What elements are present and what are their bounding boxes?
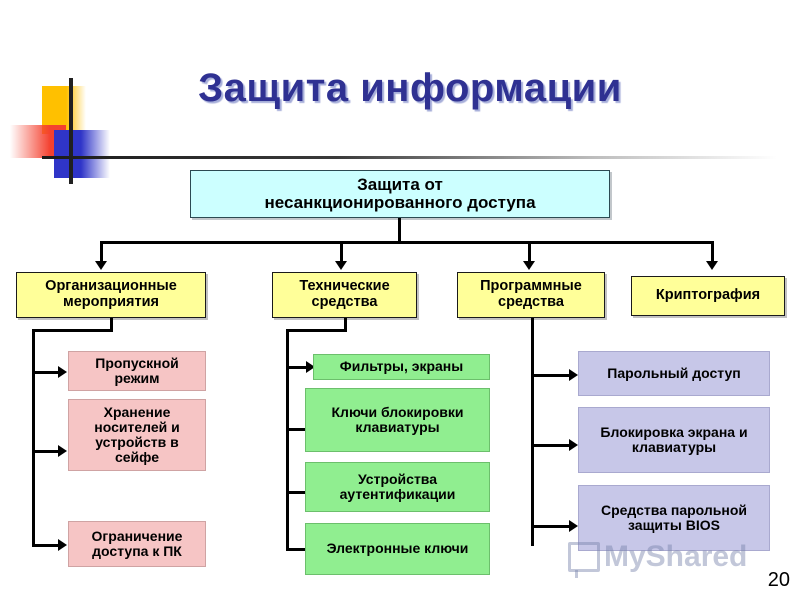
technical-item-label-2: Ключи блокировки клавиатуры — [309, 405, 486, 435]
header-divider-rule — [42, 156, 777, 159]
category-drop-1 — [100, 241, 103, 263]
technical-item-box-1: Фильтры, экраны — [313, 354, 490, 380]
organizational-item-label-1: Пропускной режим — [72, 356, 202, 386]
category-arrow-2-icon — [335, 261, 347, 270]
root-box-line1: Защита от — [264, 176, 535, 194]
page-title: Защита информации — [120, 66, 700, 111]
technical-elbow — [286, 329, 347, 332]
technical-item-box-3: Устройства аутентификации — [305, 462, 490, 512]
organizational-spine — [32, 329, 35, 547]
software-branch-3 — [531, 525, 571, 528]
software-item-label-1: Парольный доступ — [607, 366, 741, 381]
decorative-logo — [32, 86, 128, 176]
category-arrow-4-icon — [706, 261, 718, 270]
page-number: 20 — [768, 569, 790, 592]
software-arrow-1-icon — [569, 369, 578, 381]
organizational-item-box-3: Ограничение доступа к ПК — [68, 521, 206, 567]
technical-item-box-4: Электронные ключи — [305, 523, 490, 575]
organizational-item-box-2: Хранение носителей и устройств в сейфе — [68, 399, 206, 471]
software-arrow-2-icon — [569, 439, 578, 451]
category-arrow-3-icon — [523, 261, 535, 270]
organizational-branch-2 — [32, 450, 60, 453]
category-drop-2 — [340, 241, 343, 263]
category-label-technical: Технические средства — [276, 279, 413, 310]
category-drop-4 — [711, 241, 714, 263]
organizational-arrow-3-icon — [58, 539, 67, 551]
root-box-line2: несанкционированного доступа — [264, 194, 535, 212]
software-item-box-2: Блокировка экрана и клавиатуры — [578, 407, 770, 473]
technical-branch-1 — [286, 366, 308, 369]
technical-item-box-2: Ключи блокировки клавиатуры — [305, 388, 490, 452]
logo-blue-square — [54, 130, 110, 178]
software-item-box-3: Средства парольной защиты BIOS — [578, 485, 770, 551]
category-label-cryptography: Криптография — [656, 288, 760, 304]
software-item-label-2: Блокировка экрана и клавиатуры — [582, 425, 766, 455]
category-bus — [100, 241, 714, 244]
category-box-technical: Технические средства — [272, 272, 417, 318]
software-item-label-3: Средства парольной защиты BIOS — [582, 503, 766, 533]
technical-item-label-1: Фильтры, экраны — [340, 359, 463, 374]
root-stem — [398, 218, 401, 243]
category-label-software: Программные средства — [461, 279, 601, 310]
category-arrow-1-icon — [95, 261, 107, 270]
root-box: Защита от несанкционированного доступа — [190, 170, 610, 218]
category-box-organizational: Организационные мероприятия — [16, 272, 206, 318]
organizational-arrow-1-icon — [58, 366, 67, 378]
category-box-cryptography: Криптография — [631, 276, 785, 316]
software-stem — [531, 318, 534, 546]
category-box-software: Программные средства — [457, 272, 605, 318]
organizational-elbow — [32, 329, 113, 332]
category-drop-3 — [528, 241, 531, 263]
software-item-box-1: Парольный доступ — [578, 351, 770, 396]
organizational-branch-1 — [32, 371, 60, 374]
slide: Защита информации Защита от несанкционир… — [0, 0, 800, 600]
organizational-arrow-2-icon — [58, 445, 67, 457]
technical-item-label-3: Устройства аутентификации — [309, 472, 486, 502]
software-branch-2 — [531, 444, 571, 447]
technical-spine — [286, 329, 289, 551]
software-arrow-3-icon — [569, 520, 578, 532]
technical-item-label-4: Электронные ключи — [327, 541, 469, 556]
organizational-item-label-3: Ограничение доступа к ПК — [72, 529, 202, 559]
category-label-organizational: Организационные мероприятия — [20, 279, 202, 310]
organizational-branch-3 — [32, 544, 60, 547]
software-branch-1 — [531, 374, 571, 377]
organizational-item-box-1: Пропускной режим — [68, 351, 206, 391]
organizational-item-label-2: Хранение носителей и устройств в сейфе — [72, 405, 202, 465]
logo-vertical-bar — [69, 78, 73, 184]
